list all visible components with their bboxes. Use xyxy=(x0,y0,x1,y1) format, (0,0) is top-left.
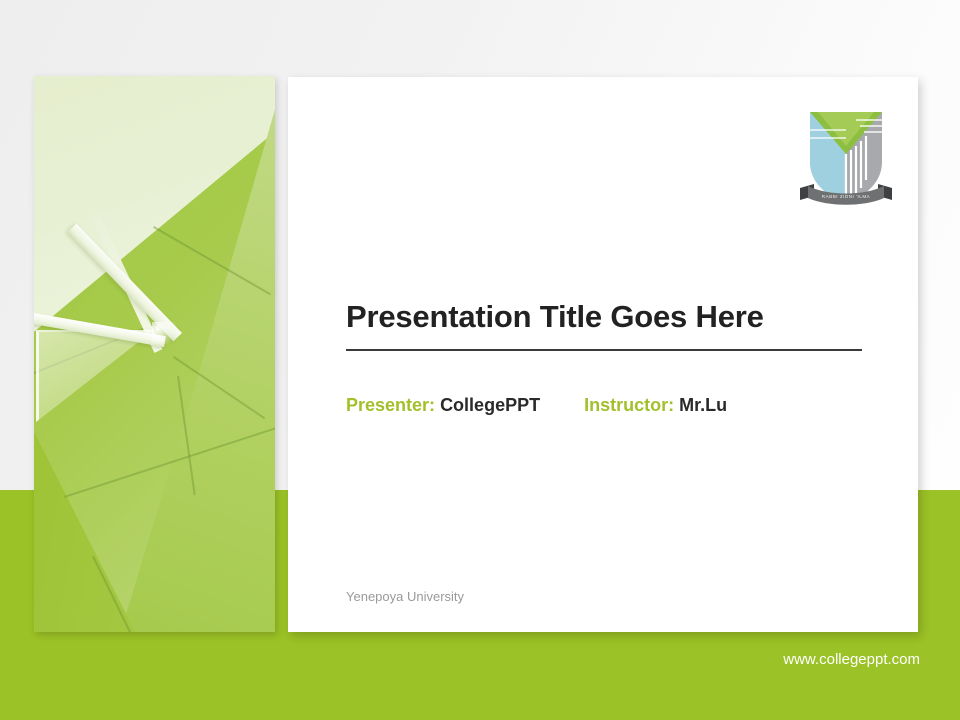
page-title: Presentation Title Goes Here xyxy=(346,299,866,335)
presenter-label: Presenter: xyxy=(346,395,435,415)
website-url: www.collegeppt.com xyxy=(783,651,920,668)
yenepoya-university-shield-logo: RABBI ZIDNI 'ILMA xyxy=(796,106,896,211)
presentation-slide: RABBI ZIDNI 'ILMA Presentation Title Goe… xyxy=(0,0,960,720)
logo-ribbon-motto: RABBI ZIDNI 'ILMA xyxy=(822,194,871,199)
title-divider xyxy=(346,349,862,351)
green-architectural-ceiling-photo xyxy=(34,76,275,632)
instructor-label: Instructor: xyxy=(584,395,674,415)
photo-light-fixture-apex-glow xyxy=(152,322,180,344)
slide-content-card: RABBI ZIDNI 'ILMA Presentation Title Goe… xyxy=(288,77,918,632)
credits-line: Presenter: CollegePPT Instructor: Mr.Lu xyxy=(346,395,727,416)
instructor-value: Mr.Lu xyxy=(679,395,727,415)
title-block: Presentation Title Goes Here xyxy=(346,299,866,351)
presenter-value: CollegePPT xyxy=(440,395,540,415)
footer-institution: Yenepoya University xyxy=(346,589,464,604)
